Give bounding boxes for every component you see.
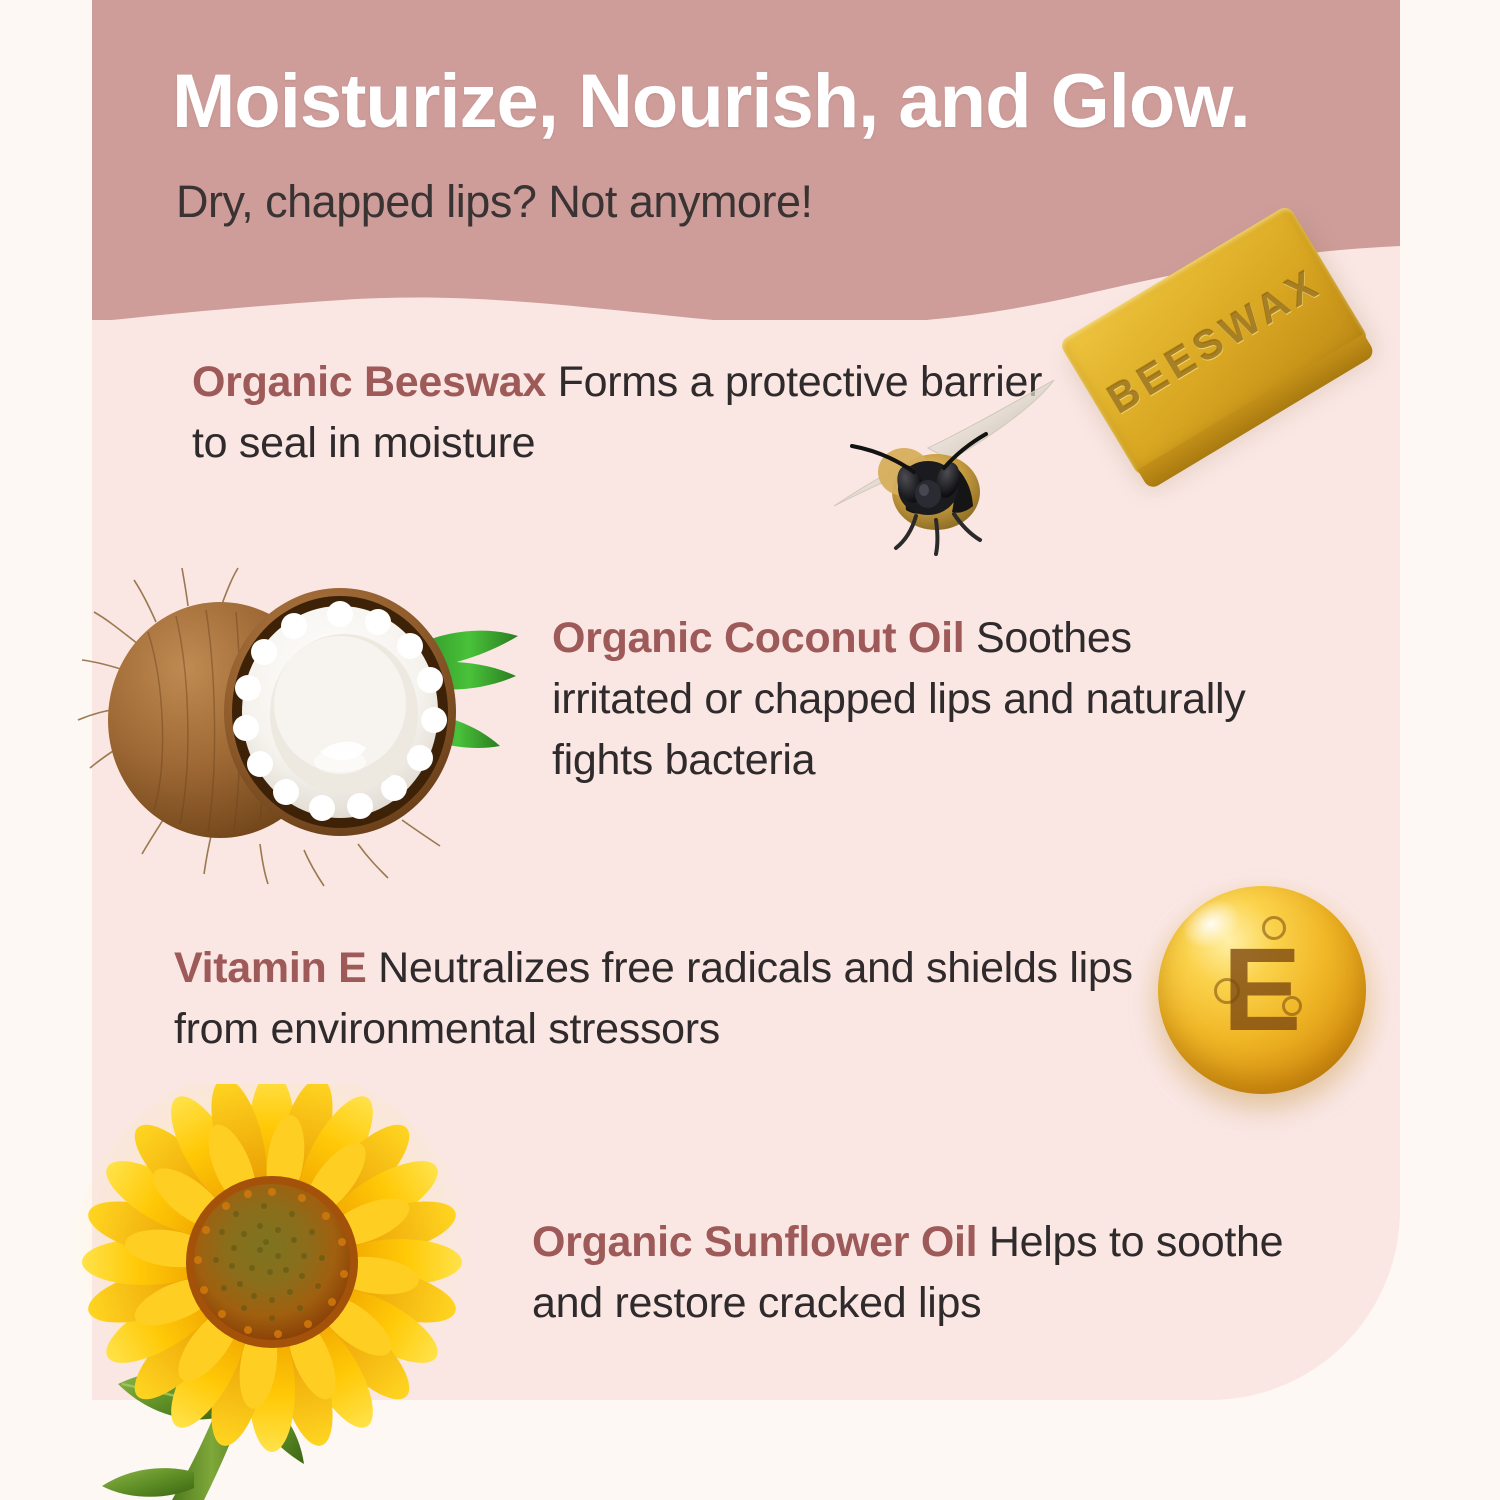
sunflower-illustration xyxy=(64,1084,484,1500)
bubble-icon-top xyxy=(1262,916,1286,940)
page-subtitle: Dry, chapped lips? Not anymore! xyxy=(176,176,1276,228)
ingredient-name-sunflower: Organic Sunflower Oil xyxy=(532,1218,977,1266)
coconut-half xyxy=(224,588,456,836)
ingredient-name-coconut: Organic Coconut Oil xyxy=(552,614,964,662)
bubble-icon-right xyxy=(1282,996,1302,1016)
ingredient-name-beeswax: Organic Beeswax xyxy=(192,358,546,406)
droplet-letter: E xyxy=(1158,886,1366,1094)
honeybee-illustration xyxy=(832,372,1062,562)
beeswax-bar-image: BEESWAX xyxy=(1058,248,1388,558)
bubble-icon-left xyxy=(1214,978,1240,1004)
vitamin-e-droplet-image: E xyxy=(1140,878,1390,1108)
coconut-illustration xyxy=(72,562,522,892)
ingredient-text-sunflower: Organic Sunflower Oil Helps to soothe an… xyxy=(532,1212,1292,1334)
sunflower-image xyxy=(64,1084,484,1500)
ingredient-text-vitamin-e: Vitamin E Neutralizes free radicals and … xyxy=(174,938,1134,1060)
coconut-image xyxy=(72,562,522,892)
page-title: Moisturize, Nourish, and Glow. xyxy=(172,64,1372,140)
ingredient-name-vitamin-e: Vitamin E xyxy=(174,944,366,992)
infographic-canvas: Moisturize, Nourish, and Glow. Dry, chap… xyxy=(0,0,1500,1500)
ingredient-text-coconut: Organic Coconut Oil Soothes irritated or… xyxy=(552,608,1282,791)
honeybee-image xyxy=(832,372,1062,562)
